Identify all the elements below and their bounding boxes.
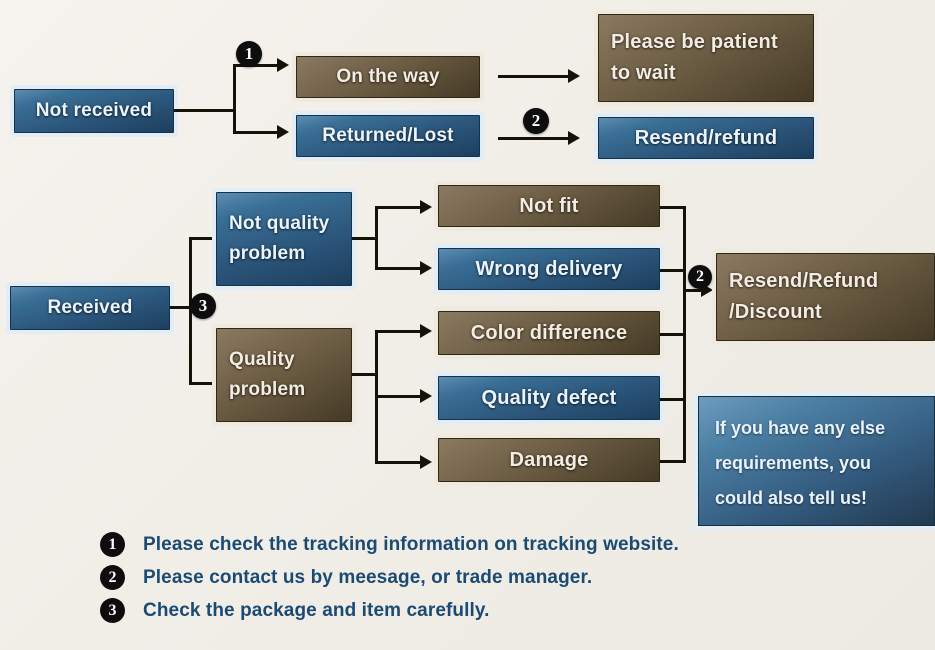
connector-q-to-quality-defect: [375, 395, 423, 398]
node-damage[interactable]: Damage: [438, 438, 660, 482]
node-quality-problem-line1: Quality: [229, 350, 363, 370]
bubble-line1: If you have any else: [715, 418, 885, 438]
legend-text-1: Please check the tracking information on…: [143, 534, 679, 556]
node-please-be-patient-line1: Please be patient: [611, 32, 825, 53]
arrow-to-returned-lost: [277, 125, 289, 139]
node-not-quality-problem[interactable]: Not quality problem: [216, 192, 352, 286]
node-not-received[interactable]: Not received: [14, 89, 174, 133]
node-resend-refund-discount[interactable]: Resend/Refund /Discount: [716, 253, 935, 341]
badge-one-top: 1: [236, 41, 262, 67]
connector-q-to-color-difference: [375, 330, 423, 333]
connector-returned-to-resend: [498, 137, 570, 140]
node-not-quality-problem-line1: Not quality: [229, 214, 363, 234]
node-not-quality-problem-line2: problem: [229, 244, 363, 264]
badge-two-middle: 2: [688, 265, 712, 289]
connector-q-to-damage: [375, 461, 423, 464]
connector-nq-to-not-fit: [375, 206, 423, 209]
node-quality-problem-line2: problem: [229, 380, 363, 400]
connector-not-received-stem: [174, 109, 236, 112]
node-damage-label: Damage: [439, 450, 659, 471]
node-not-fit-label: Not fit: [439, 196, 659, 217]
node-on-the-way-label: On the way: [297, 67, 479, 87]
node-received-label: Received: [11, 298, 169, 318]
legend-badge-1: 1: [100, 532, 125, 557]
node-please-be-patient[interactable]: Please be patient to wait: [598, 14, 814, 102]
node-resend-refund-label: Resend/refund: [599, 128, 813, 149]
node-returned-lost-label: Returned/Lost: [297, 126, 479, 146]
connector-on-the-way-to-patient: [498, 75, 570, 78]
flowchart-canvas: Not received 1 On the way Returned/Lost …: [0, 0, 935, 650]
badge-three-middle: 3: [190, 293, 216, 319]
node-resend-refund-discount-line1: Resend/Refund: [729, 271, 935, 292]
legend: 1 Please check the tracking information …: [100, 528, 800, 627]
node-on-the-way[interactable]: On the way: [296, 56, 480, 98]
legend-row: 2 Please contact us by meesage, or trade…: [100, 561, 800, 594]
speech-bubble-extra-requirements[interactable]: If you have any else requirements, you c…: [698, 396, 935, 526]
legend-text-3: Check the package and item carefully.: [143, 600, 490, 622]
node-color-difference[interactable]: Color difference: [438, 311, 660, 355]
node-resend-refund[interactable]: Resend/refund: [598, 117, 814, 159]
connector-nq-split: [375, 206, 378, 270]
connector-not-received-split: [233, 64, 236, 134]
node-quality-defect[interactable]: Quality defect: [438, 376, 660, 420]
node-wrong-delivery-label: Wrong delivery: [439, 259, 659, 280]
legend-badge-2: 2: [100, 565, 125, 590]
arrow-nq-to-wrong-delivery: [420, 261, 432, 275]
connector-nq-to-wrong-delivery: [375, 267, 423, 270]
node-not-received-label: Not received: [15, 101, 173, 121]
legend-row: 1 Please check the tracking information …: [100, 528, 800, 561]
node-please-be-patient-line2: to wait: [611, 63, 825, 84]
arrow-nq-to-not-fit: [420, 200, 432, 214]
arrow-to-on-the-way: [277, 58, 289, 72]
arrow-on-the-way-to-patient: [568, 69, 580, 83]
connector-collector-bus: [683, 206, 686, 463]
connector-to-returned-lost: [233, 131, 279, 134]
legend-badge-3: 3: [100, 598, 125, 623]
bubble-line3: could also tell us!: [715, 488, 867, 508]
node-quality-problem[interactable]: Quality problem: [216, 328, 352, 422]
node-color-difference-label: Color difference: [439, 323, 659, 344]
node-quality-defect-label: Quality defect: [439, 388, 659, 409]
arrow-q-to-damage: [420, 455, 432, 469]
badge-two-top: 2: [523, 108, 549, 134]
legend-text-2: Please contact us by meesage, or trade m…: [143, 567, 592, 589]
bubble-line2: requirements, you: [715, 453, 871, 473]
arrow-returned-to-resend: [568, 131, 580, 145]
node-resend-refund-discount-line2: /Discount: [729, 302, 935, 323]
arrow-q-to-color-difference: [420, 324, 432, 338]
node-wrong-delivery[interactable]: Wrong delivery: [438, 248, 660, 290]
node-returned-lost[interactable]: Returned/Lost: [296, 115, 480, 157]
node-received[interactable]: Received: [10, 286, 170, 330]
node-not-fit[interactable]: Not fit: [438, 185, 660, 227]
legend-row: 3 Check the package and item carefully.: [100, 594, 800, 627]
arrow-q-to-quality-defect: [420, 389, 432, 403]
